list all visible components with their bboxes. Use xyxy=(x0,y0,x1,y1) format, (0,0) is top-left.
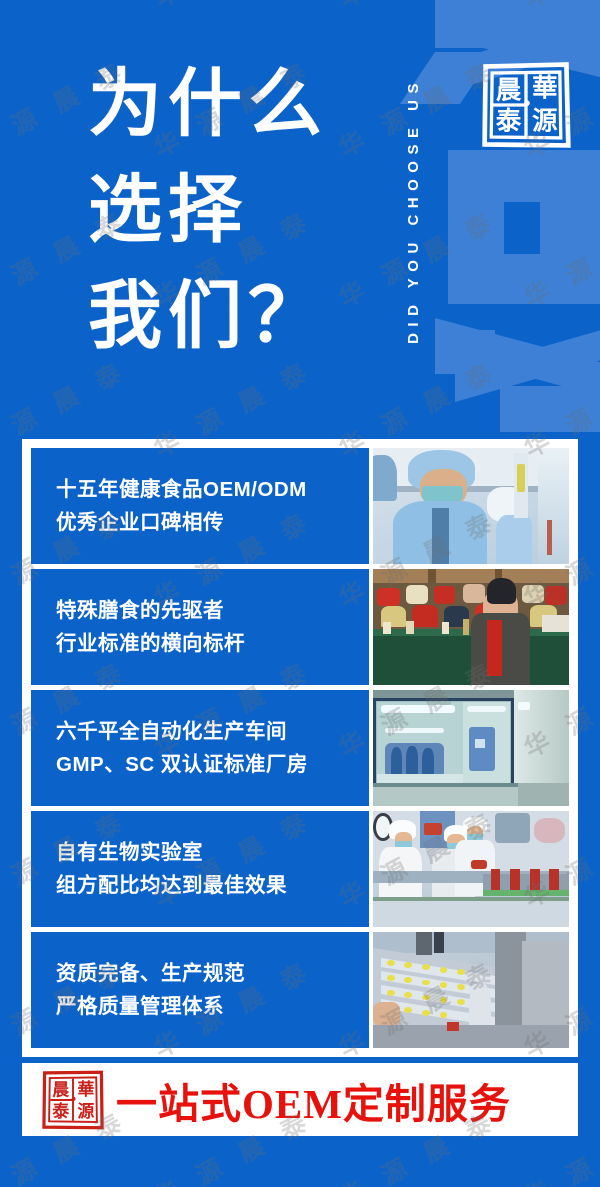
feature-text-4: 自有生物实验室 组方配比均达到最佳效果 xyxy=(31,811,369,927)
title-line-2: 选择 xyxy=(88,158,388,264)
photo-blister-machine xyxy=(373,932,569,1048)
header-section: 为什么 选择 我们？ DID YOU CHOOSE US 晨 泰 華 源 xyxy=(0,0,600,432)
company-seal-icon: 晨 泰 華 源 xyxy=(479,57,573,153)
feature-line: 十五年健康食品OEM/ODM xyxy=(56,473,361,506)
feature-line: 六千平全自动化生产车间 xyxy=(56,715,361,748)
svg-text:源: 源 xyxy=(532,105,558,135)
list-item: 资质完备、生产规范 严格质量管理体系 xyxy=(31,932,569,1048)
feature-line: 组方配比均达到最佳效果 xyxy=(56,869,361,902)
feature-text-1: 十五年健康食品OEM/ODM 优秀企业口碑相传 xyxy=(31,448,369,564)
feature-line: 特殊膳食的先驱者 xyxy=(56,594,361,627)
title-line-3: 我们？ xyxy=(88,264,388,370)
feature-line: 严格质量管理体系 xyxy=(56,990,361,1023)
cta-banner[interactable]: 晨 泰 華 源 一站式OEM定制服务 xyxy=(22,1063,578,1136)
feature-line: GMP、SC 双认证标准厂房 xyxy=(56,748,361,781)
svg-text:泰: 泰 xyxy=(496,105,522,135)
svg-text:源: 源 xyxy=(78,1100,95,1120)
feature-list-frame: 十五年健康食品OEM/ODM 优秀企业口碑相传 xyxy=(22,439,578,1057)
title-line-1: 为什么 xyxy=(88,52,388,158)
svg-text:華: 華 xyxy=(532,73,557,103)
page-title: 为什么 选择 我们？ xyxy=(88,52,388,370)
vertical-english-tagline: DID YOU CHOOSE US xyxy=(398,10,428,410)
list-item: 十五年健康食品OEM/ODM 优秀企业口碑相传 xyxy=(31,448,569,564)
list-item: 特殊膳食的先驱者 行业标准的横向标杆 xyxy=(31,569,569,685)
photo-cleanroom-corridor xyxy=(373,690,569,806)
vertical-english-text: DID YOU CHOOSE US xyxy=(405,77,422,344)
feature-text-3: 六千平全自动化生产车间 GMP、SC 双认证标准厂房 xyxy=(31,690,369,806)
cta-banner-text: 一站式OEM定制服务 xyxy=(116,1070,511,1130)
feature-text-2: 特殊膳食的先驱者 行业标准的横向标杆 xyxy=(31,569,369,685)
svg-text:晨: 晨 xyxy=(52,1079,69,1099)
feature-line: 自有生物实验室 xyxy=(56,836,361,869)
feature-line: 资质完备、生产规范 xyxy=(56,957,361,990)
photo-packaging-line xyxy=(373,811,569,927)
feature-line: 优秀企业口碑相传 xyxy=(56,506,361,539)
feature-line: 行业标准的横向标杆 xyxy=(56,627,361,660)
list-item: 六千平全自动化生产车间 GMP、SC 双认证标准厂房 xyxy=(31,690,569,806)
feature-text-5: 资质完备、生产规范 严格质量管理体系 xyxy=(31,932,369,1048)
svg-text:泰: 泰 xyxy=(51,1100,69,1120)
photo-lab-technician xyxy=(373,448,569,564)
feature-list: 十五年健康食品OEM/ODM 优秀企业口碑相传 xyxy=(31,448,569,1048)
photo-conference-hall xyxy=(373,569,569,685)
svg-text:華: 華 xyxy=(78,1078,95,1098)
poster-root: 为什么 选择 我们？ DID YOU CHOOSE US 晨 泰 華 源 xyxy=(0,0,600,1187)
svg-text:晨: 晨 xyxy=(496,74,522,104)
company-seal-red-icon: 晨 泰 華 源 xyxy=(40,1069,106,1131)
list-item: 自有生物实验室 组方配比均达到最佳效果 xyxy=(31,811,569,927)
